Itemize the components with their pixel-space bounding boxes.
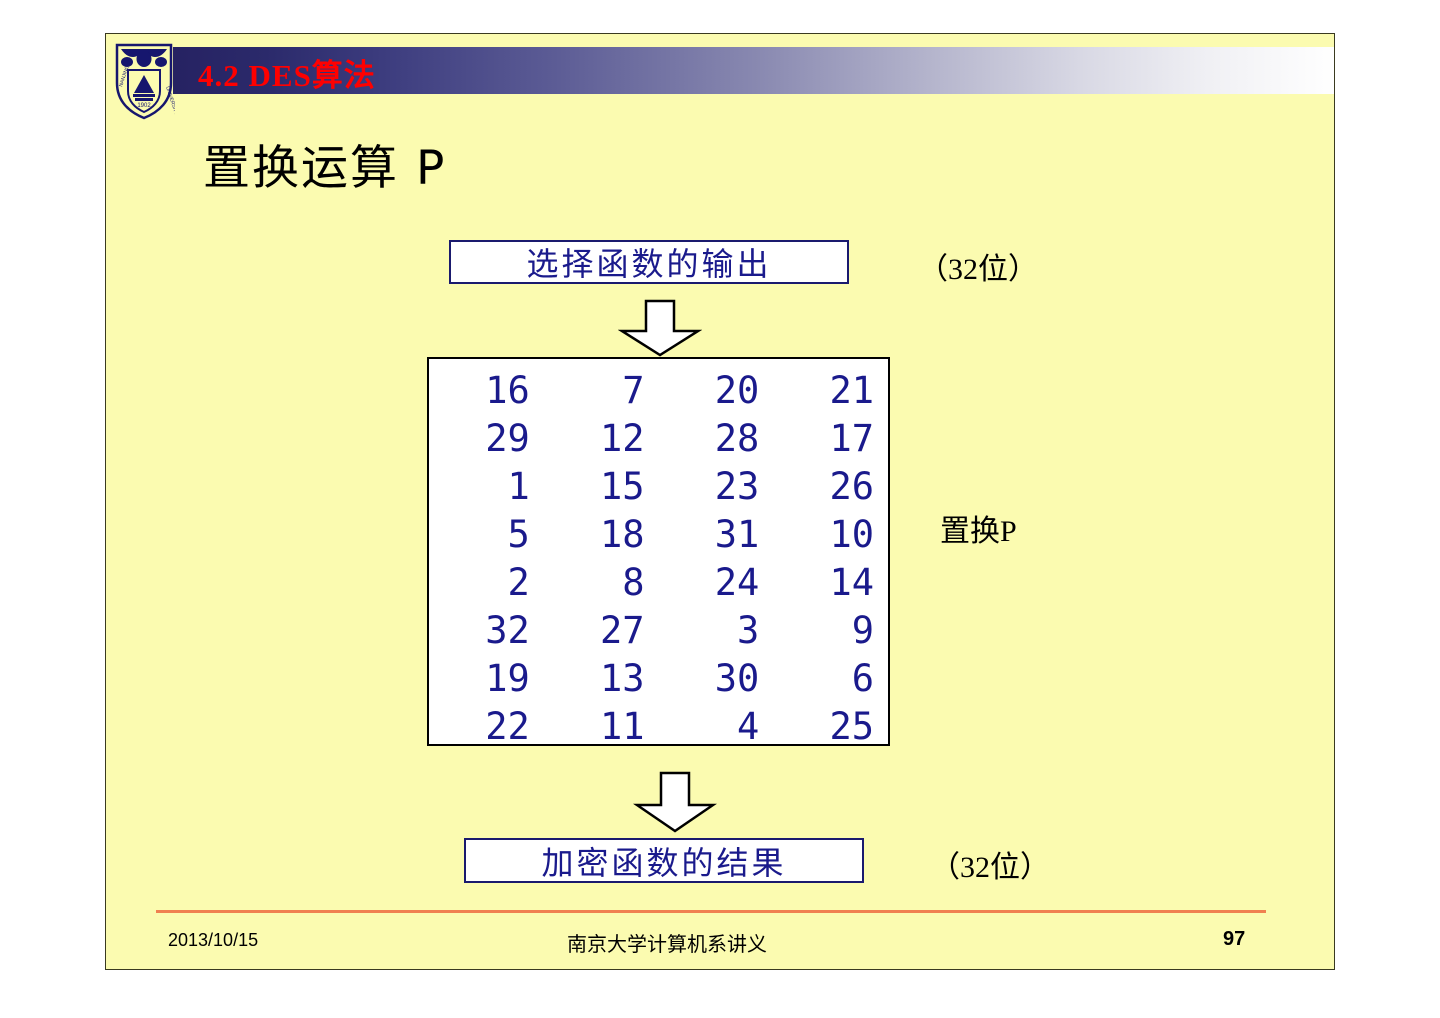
- footer-center-text: 南京大学计算机系讲义: [567, 928, 767, 957]
- input-box: 选择函数的输出: [449, 240, 849, 284]
- table-cell: 22: [429, 703, 544, 751]
- table-row: 1152326: [429, 463, 888, 511]
- down-arrow-icon: [618, 299, 702, 357]
- table-cell: 21: [773, 367, 888, 415]
- page-title: 置换运算 P: [203, 129, 446, 198]
- table-row: 2211425: [429, 703, 888, 751]
- svg-text:1902: 1902: [137, 103, 151, 109]
- nanjing-university-emblem-icon: 1902 NANJING UNIVERSITY: [113, 39, 175, 121]
- table-row: 1672021: [429, 367, 888, 415]
- table-cell: 20: [659, 367, 774, 415]
- permutation-table: 1672021291228171152326518311028241432273…: [427, 357, 890, 746]
- table-cell: 5: [429, 511, 544, 559]
- table-cell: 28: [659, 415, 774, 463]
- table-cell: 15: [544, 463, 659, 511]
- footer-date: 2013/10/15: [168, 930, 258, 951]
- table-cell: 18: [544, 511, 659, 559]
- table-cell: 31: [659, 511, 774, 559]
- header-section-title: 4.2 DES算法: [198, 50, 376, 95]
- table-cell: 24: [659, 559, 774, 607]
- table-row: 322739: [429, 607, 888, 655]
- table-cell: 9: [773, 607, 888, 655]
- table-row: 282414: [429, 559, 888, 607]
- presentation-slide: 4.2 DES算法 1902 NANJING UNIVERSITY 置换运算 P…: [105, 33, 1335, 970]
- table-cell: 2: [429, 559, 544, 607]
- table-cell: 13: [544, 655, 659, 703]
- down-arrow-icon: [633, 771, 717, 833]
- table-cell: 1: [429, 463, 544, 511]
- output-bits-label: （32位）: [930, 842, 1050, 886]
- footer-page-number: 97: [1223, 928, 1245, 951]
- table-cell: 30: [659, 655, 774, 703]
- table-cell: 32: [429, 607, 544, 655]
- table-cell: 6: [773, 655, 888, 703]
- table-cell: 27: [544, 607, 659, 655]
- table-cell: 12: [544, 415, 659, 463]
- table-cell: 8: [544, 559, 659, 607]
- table-row: 1913306: [429, 655, 888, 703]
- table-cell: 4: [659, 703, 774, 751]
- operation-label: 置换P: [940, 506, 1017, 550]
- table-cell: 14: [773, 559, 888, 607]
- table-cell: 29: [429, 415, 544, 463]
- input-bits-label: （32位）: [918, 244, 1038, 288]
- table-cell: 26: [773, 463, 888, 511]
- table-cell: 10: [773, 511, 888, 559]
- permutation-values-table: 1672021291228171152326518311028241432273…: [429, 367, 888, 751]
- table-cell: 7: [544, 367, 659, 415]
- table-row: 29122817: [429, 415, 888, 463]
- table-cell: 3: [659, 607, 774, 655]
- table-cell: 11: [544, 703, 659, 751]
- table-row: 5183110: [429, 511, 888, 559]
- table-cell: 16: [429, 367, 544, 415]
- table-cell: 17: [773, 415, 888, 463]
- table-cell: 25: [773, 703, 888, 751]
- table-cell: 19: [429, 655, 544, 703]
- output-box: 加密函数的结果: [464, 838, 864, 883]
- footer-divider: [156, 910, 1266, 913]
- table-cell: 23: [659, 463, 774, 511]
